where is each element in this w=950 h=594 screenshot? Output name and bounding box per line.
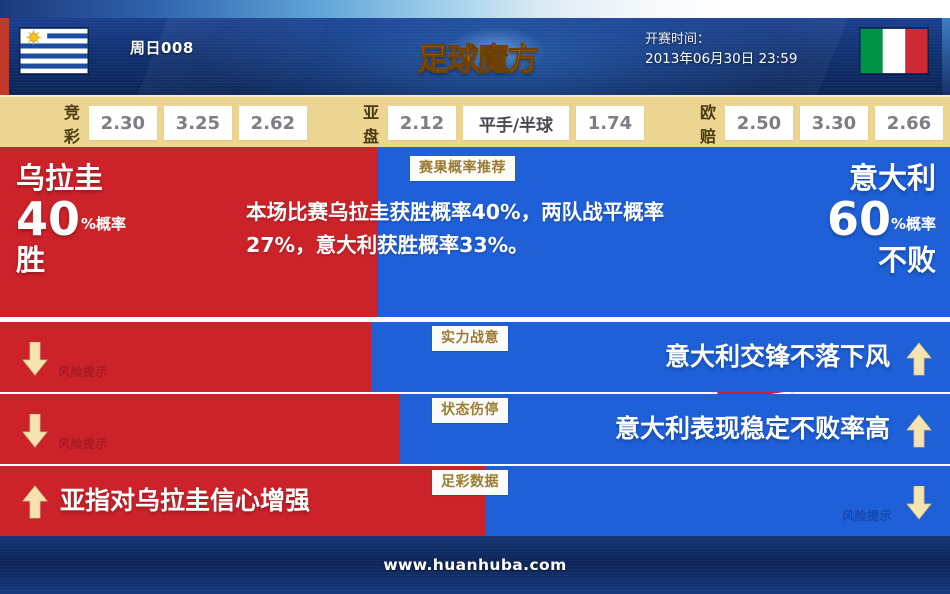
home-verdict: 胜	[16, 243, 126, 277]
arrow-down-icon	[22, 342, 48, 376]
infographic-page: 周日008 足球魔方 开赛时间： 2013年06月30日 23:59 竞彩 2.…	[0, 0, 950, 594]
section-tag-betting-data: 足彩数据	[432, 470, 508, 495]
section-tag-form: 状态伤停	[432, 398, 508, 423]
away-verdict: 不败	[827, 243, 936, 277]
home-probability-value: 40	[16, 192, 80, 246]
uruguay-flag-icon	[20, 28, 88, 74]
odds-group-yapan: 亚盘 2.12 平手/半球 1.74	[363, 99, 651, 147]
logo-text: 足球魔方	[418, 34, 538, 79]
info-row-red-segment	[0, 322, 371, 392]
info-row-text-left: 亚指对乌拉圭信心增强	[60, 485, 310, 517]
arrow-up-icon	[906, 342, 932, 376]
info-row-red-segment	[0, 394, 400, 464]
odds-group-jingcai: 竞彩 2.30 3.25 2.62	[64, 99, 314, 147]
odds-cell[interactable]: 3.30	[800, 106, 868, 140]
footer-bar: www.huanhuba.com	[0, 536, 950, 594]
site-logo[interactable]: 足球魔方	[400, 24, 555, 88]
info-row-text-right: 意大利交锋不落下风	[665, 341, 890, 373]
section-tag-strength: 实力战意	[432, 326, 508, 351]
odds-group-title: 竞彩	[64, 99, 81, 147]
info-row-blue-segment	[485, 466, 950, 536]
away-team-name: 意大利	[827, 161, 936, 195]
header-red-accent	[0, 18, 9, 95]
sky-gradient-strip	[0, 0, 950, 18]
odds-group-oupei: 欧赔 2.50 3.30 2.66	[700, 99, 950, 147]
odds-cell[interactable]: 2.62	[239, 106, 307, 140]
arrow-up-icon	[22, 485, 48, 519]
away-prediction: 意大利 60%概率 不败	[827, 161, 936, 277]
arrow-down-icon	[906, 486, 932, 520]
odds-group-title: 亚盘	[363, 99, 380, 147]
header-right-edge	[942, 18, 950, 95]
odds-group-title: 欧赔	[700, 99, 717, 147]
risk-note-right: 风险提示	[842, 507, 892, 524]
home-flag	[20, 28, 88, 74]
odds-bar: 竞彩 2.30 3.25 2.62 亚盘 2.12 平手/半球 1.74 欧赔 …	[0, 95, 950, 150]
arrow-down-icon	[22, 414, 48, 448]
home-prediction: 乌拉圭 40%概率 胜	[16, 161, 126, 277]
odds-cell[interactable]: 2.30	[89, 106, 157, 140]
odds-cell[interactable]: 1.74	[576, 106, 644, 140]
away-probability-value: 60	[827, 192, 891, 246]
prediction-summary-text: 本场比赛乌拉圭获胜概率40%，两队战平概率27%，意大利获胜概率33%。	[246, 196, 676, 262]
match-number: 周日008	[130, 37, 194, 58]
home-team-name: 乌拉圭	[16, 161, 126, 195]
odds-cell[interactable]: 2.12	[388, 106, 456, 140]
info-row-text-right: 意大利表现稳定不败率高	[615, 413, 890, 445]
kickoff-label: 开赛时间：	[645, 30, 830, 49]
arrow-up-icon	[906, 414, 932, 448]
home-probability-suffix: %概率	[81, 215, 126, 233]
odds-cell-handicap[interactable]: 平手/半球	[463, 106, 569, 140]
away-flag	[860, 28, 928, 74]
risk-note-left: 风险提示	[58, 363, 108, 380]
odds-cell[interactable]: 2.66	[875, 106, 943, 140]
risk-note-left: 风险提示	[58, 435, 108, 452]
italy-flag-icon	[860, 28, 928, 74]
kickoff-time: 2013年06月30日 23:59	[645, 50, 830, 69]
away-probability-suffix: %概率	[891, 215, 936, 233]
section-tag-probability: 赛果概率推荐	[410, 156, 515, 181]
footer-website[interactable]: www.huanhuba.com	[383, 556, 566, 574]
odds-cell[interactable]: 2.50	[725, 106, 793, 140]
odds-cell[interactable]: 3.25	[164, 106, 232, 140]
